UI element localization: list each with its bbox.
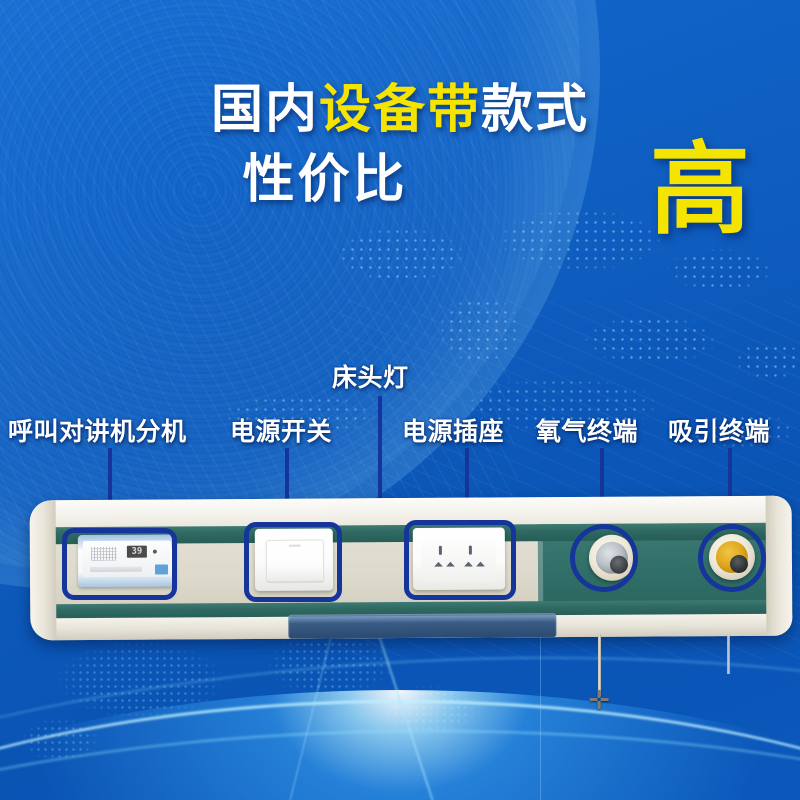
callout-label-bedside-lamp: 床头灯: [332, 358, 409, 394]
callout-label-suction-terminal: 吸引终端: [668, 412, 770, 448]
callout-label-oxygen-terminal: 氧气终端: [536, 412, 638, 448]
cord-weight-icon: ✛: [586, 688, 612, 712]
callout-label-power-switch: 电源开关: [230, 412, 332, 448]
suction-pull-cord: [727, 634, 730, 674]
panel-end-cap-right: [766, 496, 793, 636]
highlight-intercom-extension: [62, 528, 177, 600]
highlight-suction-terminal: [698, 524, 766, 592]
highlight-oxygen-terminal: [570, 524, 638, 592]
callout-label-intercom-extension: 呼叫对讲机分机: [8, 412, 187, 448]
highlight-power-switch: [244, 522, 342, 602]
callout-label-power-socket: 电源插座: [402, 412, 504, 448]
bedside-lamp-gloss: [288, 615, 556, 624]
headline-emphasis-character: 高: [650, 140, 750, 240]
vertical-light-line: [540, 620, 541, 800]
promo-banner: 国内设备带款式 性价比 高 呼叫对讲机分机 电源开关 床头灯 电源插座 氧气终端…: [0, 0, 800, 800]
bedside-lamp[interactable]: [288, 613, 556, 639]
highlight-power-socket: [404, 520, 516, 600]
panel-end-cap-left: [30, 500, 57, 640]
